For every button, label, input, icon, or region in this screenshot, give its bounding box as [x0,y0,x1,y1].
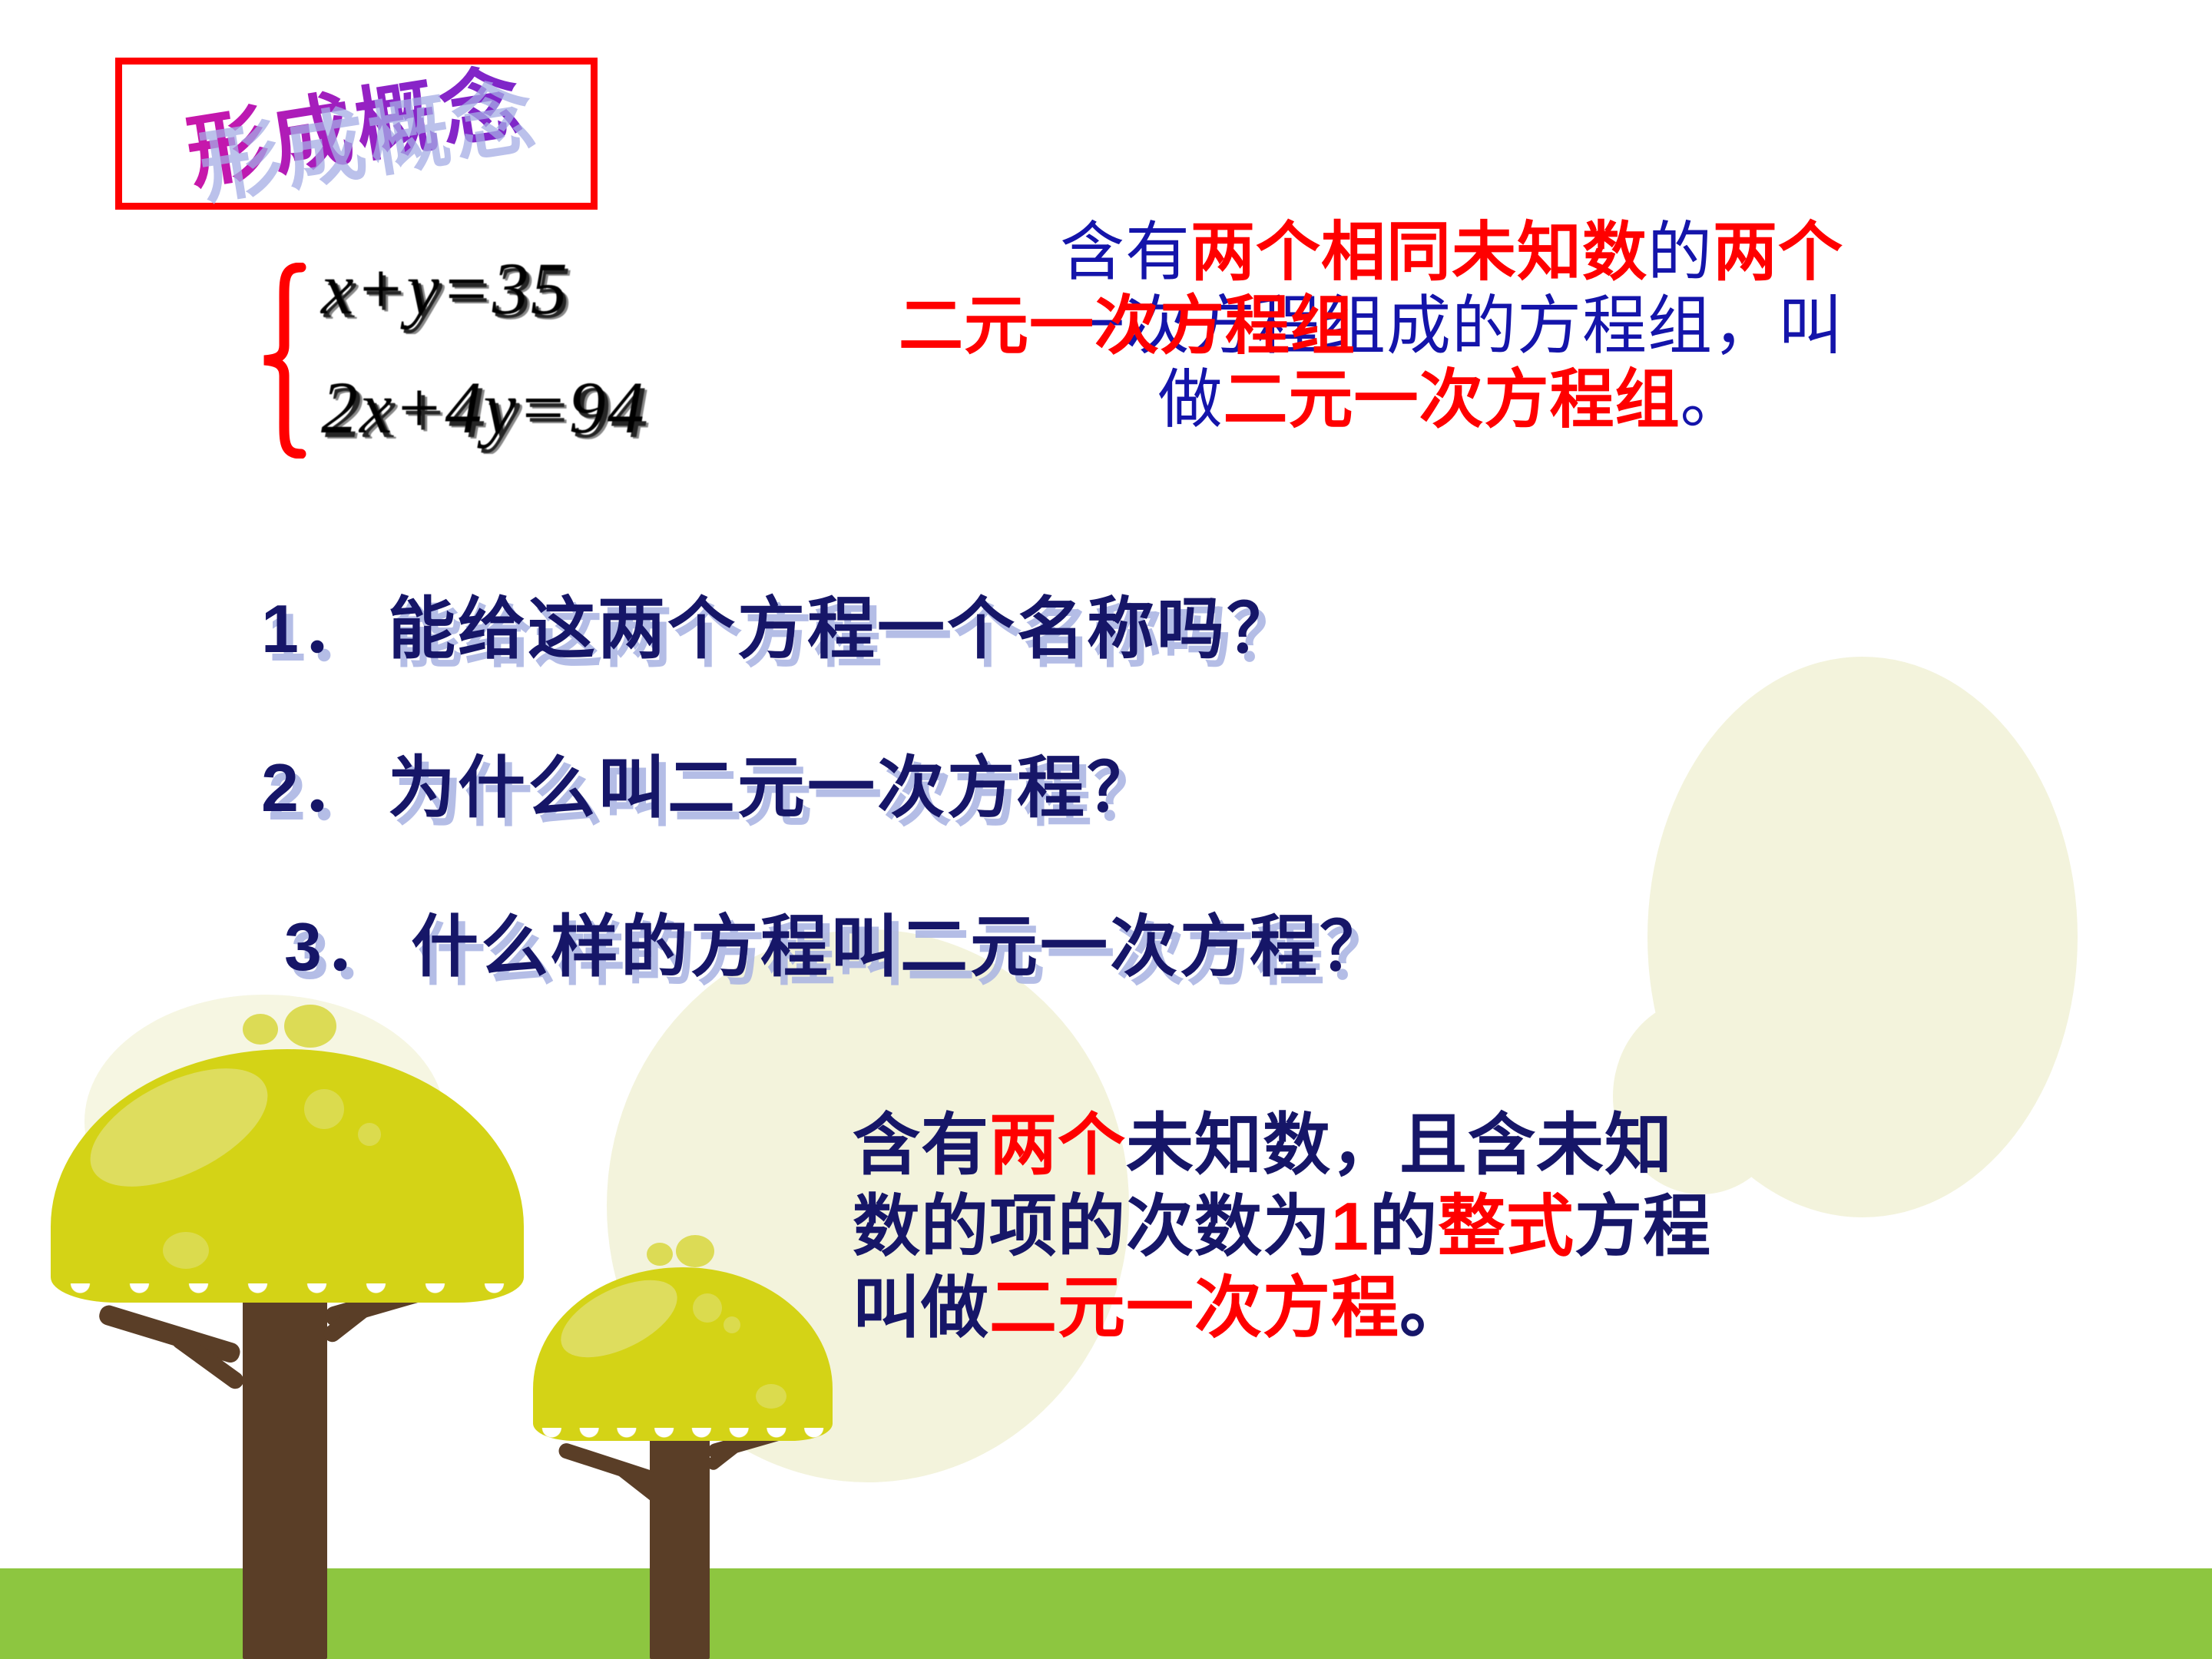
def-top-plain-a: 含有 [1060,217,1190,289]
equation-2-ghost: 2x+4y=94 [325,369,650,455]
def-bot-l1-red: 两个 [989,1107,1126,1183]
def-bot-l3-a: 叫做 [853,1270,989,1346]
question-3-number: 3． [284,909,394,985]
canopy-dot [724,1316,740,1333]
tree-trunk [650,1427,710,1659]
section-title-box: 形成概念 [115,58,598,210]
canopy-scallop-edge [51,1283,524,1303]
canopy-bud-small [243,1014,278,1045]
tree-canopy [51,1049,524,1303]
question-item-1: 1．能给这两个方程一个名称吗？ [261,575,1296,672]
def-bot-l2-red1: 1 [1331,1188,1369,1264]
slide-canvas: 形成概念 x+y=35 x+y=35 2x+4y=94 2x+4y=94 含有两… [0,0,2212,1659]
def-bot-l3-red: 二元一次方程 [989,1270,1399,1346]
canopy-dot [693,1293,722,1323]
def-bot-l1-b: 未知数，且含未知 [1126,1107,1673,1183]
question-1-text: 能给这两个方程一个名称吗？ [388,591,1296,667]
question-3-text: 什么样的方程叫二元一次方程？ [411,909,1389,985]
tree-canopy [533,1267,833,1441]
def-top-line2-overlay: 二元一次方程组 [899,290,1356,364]
question-2-number: 2． [261,750,371,826]
canopy-dot [163,1232,209,1269]
def-top-red-a: 两个相同未知数 [1190,217,1647,289]
definition-top-line-3: 做二元一次方程组。 [914,364,1989,438]
def-top-line3-red: 二元一次方程组 [1223,365,1680,436]
def-bot-l1-a: 含有 [853,1107,989,1183]
equation-lines: x+y=35 x+y=35 2x+4y=94 2x+4y=94 [321,246,646,450]
equation-1-ghost: x+y=35 [324,250,572,335]
tree-branch [97,1303,242,1365]
canopy-dot [304,1089,344,1129]
question-2-text: 为什么叫二元一次方程？ [388,750,1157,826]
definition-bottom-line-3: 叫做二元一次方程。 [853,1267,2158,1349]
definition-linear-equation: 含有两个未知数，且含未知 数的项的次数为1的整式方程 叫做二元一次方程。 [853,1104,2158,1349]
canopy-highlight [72,1049,285,1211]
definition-bottom-line-2: 数的项的次数为1的整式方程 [853,1186,2158,1267]
def-top-line3-a: 做 [1157,365,1223,436]
def-bot-l2-a: 数的项的次数为 [853,1188,1331,1264]
def-top-red-b: 两个 [1713,217,1843,289]
def-bot-l2-b: 的 [1369,1188,1438,1264]
def-bot-l3-b: 。 [1399,1270,1468,1346]
definition-top-line-2: 一次方程组成的方程组，叫二元一次方程组 [914,290,1989,364]
def-top-plain-b: 的 [1647,217,1713,289]
definition-top-line-1: 含有两个相同未知数的两个 [914,217,1989,290]
question-1-number: 1． [261,591,371,667]
canopy-dot [756,1384,786,1409]
canopy-bud-small [647,1243,673,1266]
def-bot-l2-red2: 整式 [1438,1188,1575,1264]
definition-equation-system: 含有两个相同未知数的两个 一次方程组成的方程组，叫二元一次方程组 做二元一次方程… [914,217,1989,438]
question-item-3: 3．什么样的方程叫二元一次方程？ [284,892,1389,990]
canopy-scallop-edge [533,1428,833,1441]
equation-row-2: 2x+4y=94 2x+4y=94 [321,365,646,450]
tree-small [507,1221,868,1659]
def-top-line3-b: 。 [1681,365,1746,436]
equation-brace-icon [253,263,313,459]
section-title-text: 形成概念 [108,34,604,224]
question-item-2: 2．为什么叫二元一次方程？ [261,733,1157,831]
tree-large [15,983,568,1659]
canopy-bud-large [284,1005,336,1048]
def-bot-l2-c: 方程 [1575,1188,1711,1264]
canopy-highlight [549,1267,689,1373]
tree-trunk [243,1289,327,1659]
definition-bottom-line-1: 含有两个未知数，且含未知 [853,1104,2158,1186]
canopy-bud-large [676,1235,714,1267]
canopy-dot [358,1123,381,1146]
equation-row-1: x+y=35 x+y=35 [321,246,646,331]
